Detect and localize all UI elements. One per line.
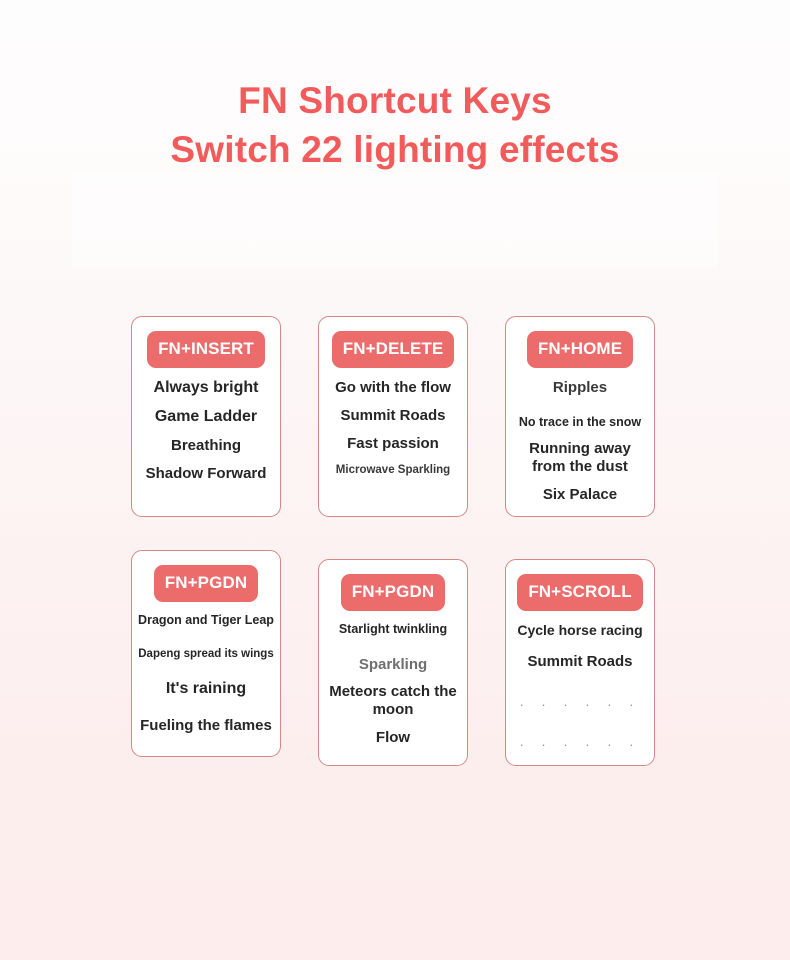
shortcut-card-grid: FN+INSERTAlways brightGame LadderBreathi… <box>131 316 659 766</box>
effect-list: Starlight twinklingSparklingMeteors catc… <box>324 621 462 747</box>
hero-background-band <box>72 172 718 268</box>
card-row-1: FN+INSERTAlways brightGame LadderBreathi… <box>131 316 659 517</box>
effect-item: Six Palace <box>543 485 617 504</box>
effect-list: Dragon and Tiger LeapDapeng spread its w… <box>137 612 275 735</box>
shortcut-card-fn-scroll: FN+SCROLLCycle horse racingSummit Roads·… <box>505 559 655 766</box>
effect-item: Game Ladder <box>155 407 257 427</box>
shortcut-card-fn-home: FN+HOMERipplesNo trace in the snowRunnin… <box>505 316 655 517</box>
effect-item: Summit Roads <box>527 652 632 671</box>
effect-list: Go with the flowSummit RoadsFast passion… <box>324 378 462 478</box>
shortcut-badge-fn-delete[interactable]: FN+DELETE <box>332 331 455 368</box>
effect-item: Dapeng spread its wings <box>138 646 273 662</box>
effect-item: Shadow Forward <box>146 464 267 483</box>
effect-item: Summit Roads <box>340 406 445 425</box>
effect-item: It's raining <box>166 679 246 699</box>
effect-item: Microwave Sparkling <box>336 462 450 478</box>
effect-item: Always bright <box>154 378 259 398</box>
shortcut-card-fn-delete: FN+DELETEGo with the flowSummit RoadsFas… <box>318 316 468 517</box>
effect-item: Sparkling <box>359 655 427 674</box>
page-title-line-2: Switch 22 lighting effects <box>0 124 790 176</box>
effect-item: Fast passion <box>347 434 439 453</box>
page-title-line-1: FN Shortcut Keys <box>0 78 790 124</box>
page-root: FN Shortcut Keys Switch 22 lighting effe… <box>0 0 790 960</box>
shortcut-card-fn-pgdn-2: FN+PGDNStarlight twinklingSparklingMeteo… <box>318 559 468 766</box>
shortcut-badge-fn-home[interactable]: FN+HOME <box>527 331 633 368</box>
effect-item: Dragon and Tiger Leap <box>138 612 274 629</box>
shortcut-badge-fn-insert[interactable]: FN+INSERT <box>147 331 265 368</box>
shortcut-card-fn-pgdn-1: FN+PGDNDragon and Tiger LeapDapeng sprea… <box>131 550 281 757</box>
shortcut-badge-fn-pgdn-1[interactable]: FN+PGDN <box>154 565 258 602</box>
effect-item: Breathing <box>171 436 241 455</box>
effect-item: Starlight twinkling <box>339 621 447 638</box>
dot-separator: · · · · · · <box>511 697 649 713</box>
effect-item: Flow <box>376 728 410 747</box>
shortcut-card-fn-insert: FN+INSERTAlways brightGame LadderBreathi… <box>131 316 281 517</box>
effect-item: Go with the flow <box>335 378 451 397</box>
effect-item: Cycle horse racing <box>517 621 642 639</box>
page-title: FN Shortcut Keys Switch 22 lighting effe… <box>0 78 790 176</box>
effect-list: RipplesNo trace in the snowRunning away … <box>511 378 649 504</box>
effect-list: Always brightGame LadderBreathingShadow … <box>137 378 275 483</box>
card-row-2: FN+PGDNDragon and Tiger LeapDapeng sprea… <box>131 550 659 766</box>
effect-item: Meteors catch the moon <box>324 683 462 719</box>
effect-item: Fueling the flames <box>140 716 272 735</box>
shortcut-badge-fn-pgdn-2[interactable]: FN+PGDN <box>341 574 445 611</box>
shortcut-badge-fn-scroll[interactable]: FN+SCROLL <box>517 574 642 611</box>
dot-separator: · · · · · · <box>511 737 649 753</box>
effect-item: Running away from the dust <box>511 440 649 476</box>
effect-item: Ripples <box>553 378 607 397</box>
effect-item: No trace in the snow <box>519 414 641 431</box>
effect-list: Cycle horse racingSummit Roads <box>511 621 649 671</box>
